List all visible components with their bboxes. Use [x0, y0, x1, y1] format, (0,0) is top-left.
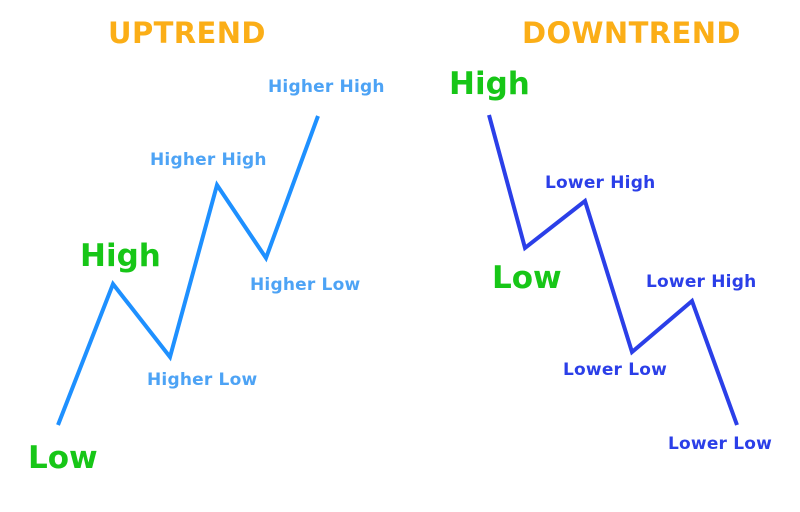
chart-canvas: UPTREND HighLowHigher HighHigher HighHig…: [0, 0, 800, 512]
pivot-label-lower-high-2: Lower High: [545, 173, 655, 193]
pivot-label-higher-low-5: Higher Low: [147, 370, 257, 390]
major-pivot-label-low-1: Low: [28, 440, 98, 476]
uptrend-title: UPTREND: [108, 16, 266, 50]
downtrend-title: DOWNTREND: [522, 16, 741, 50]
major-pivot-label-high-0: High: [80, 238, 161, 274]
pivot-label-lower-high-3: Lower High: [646, 272, 756, 292]
pivot-label-lower-low-5: Lower Low: [668, 434, 772, 454]
major-pivot-label-high-0: High: [449, 66, 530, 102]
pivot-label-higher-low-4: Higher Low: [250, 275, 360, 295]
major-pivot-label-low-1: Low: [492, 260, 562, 296]
pivot-label-higher-high-2: Higher High: [268, 77, 385, 97]
pivot-label-lower-low-4: Lower Low: [563, 360, 667, 380]
pivot-label-higher-high-3: Higher High: [150, 150, 267, 170]
